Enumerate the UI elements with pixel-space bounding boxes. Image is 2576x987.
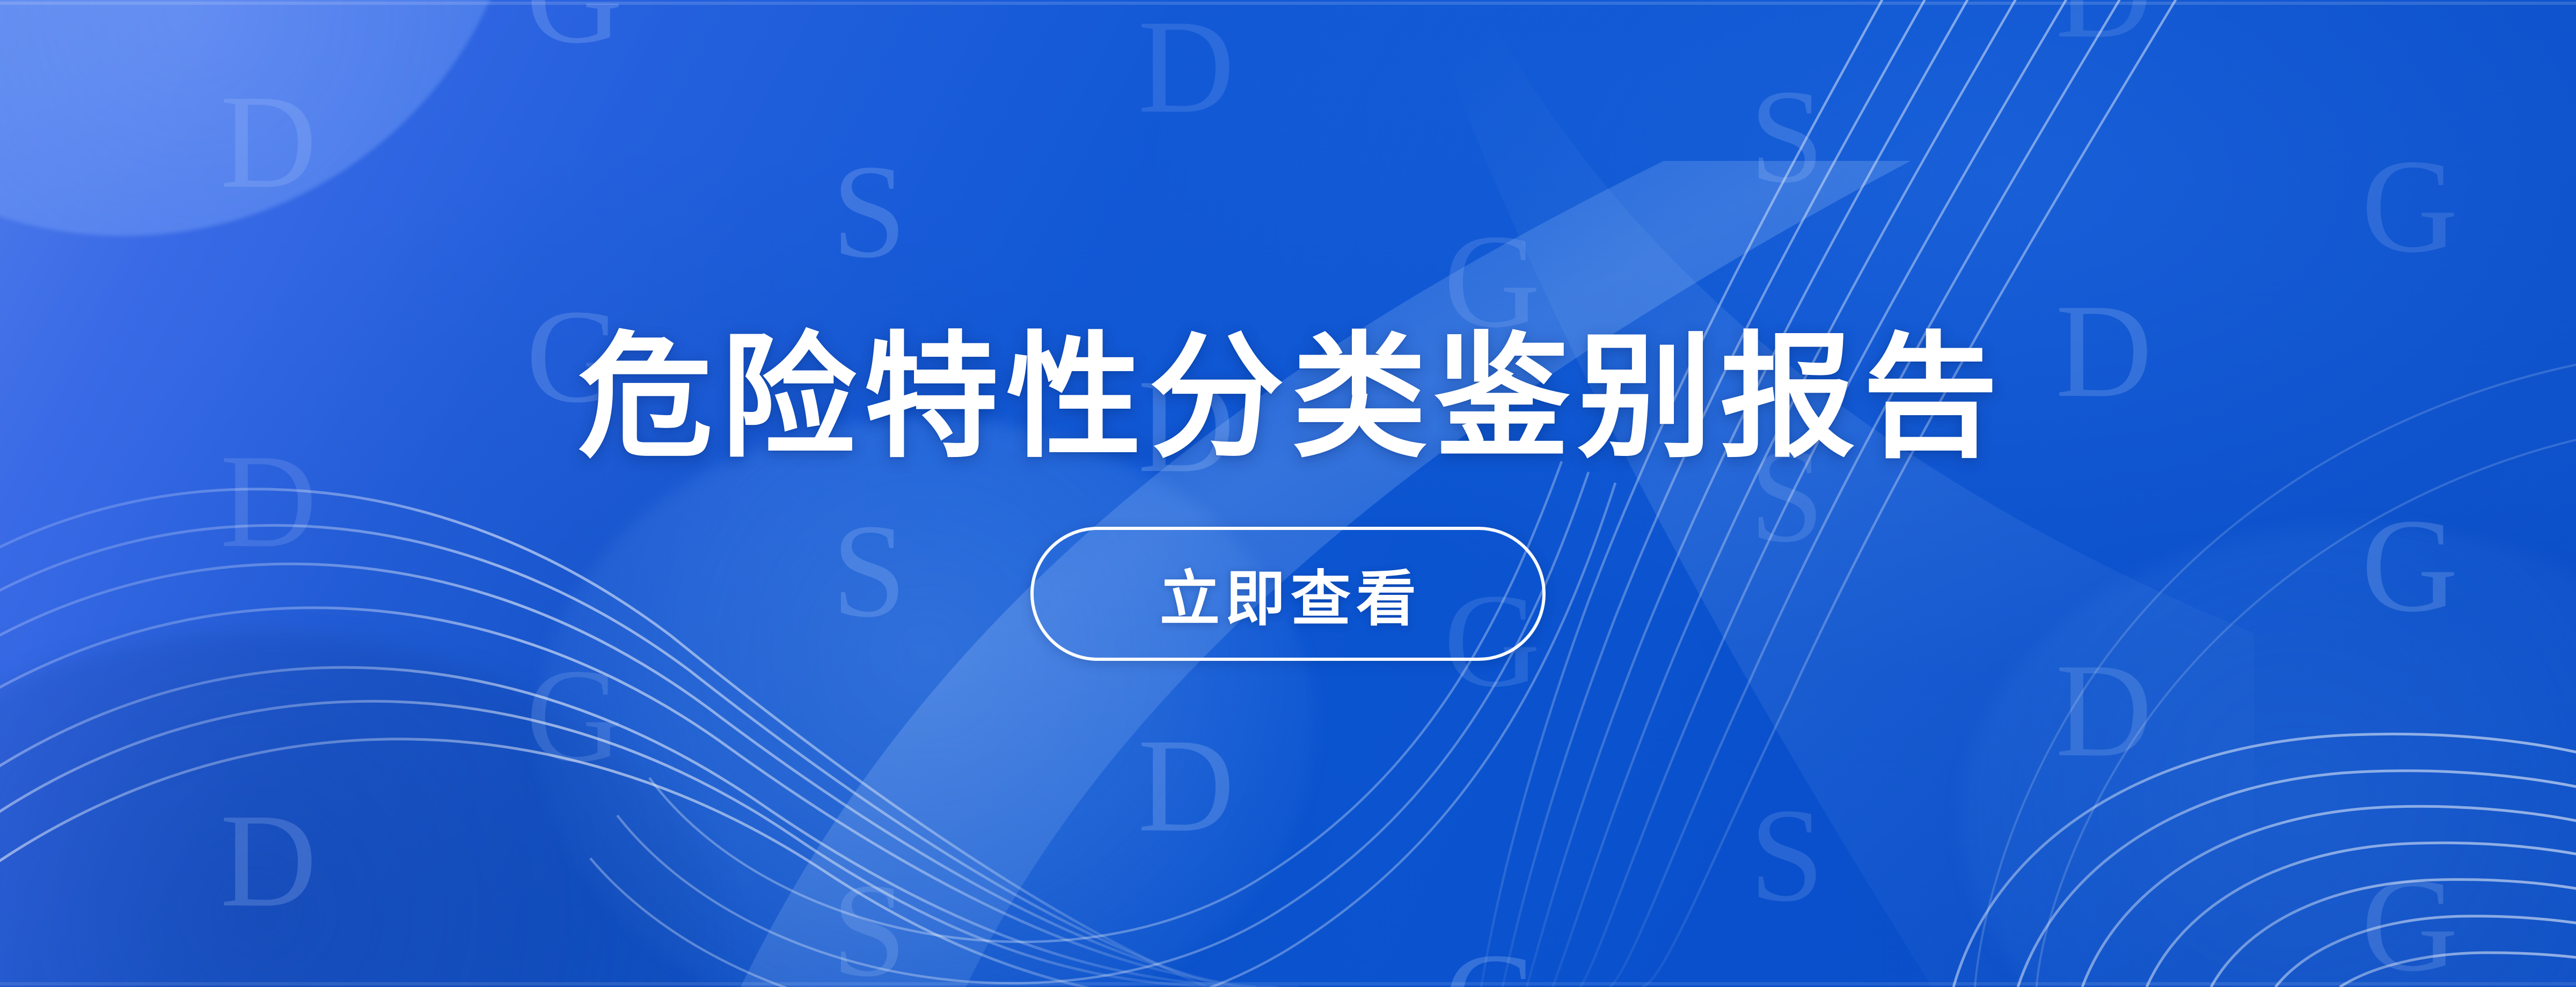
- page-title: 危险特性分类鉴别报告: [570, 326, 2006, 469]
- view-now-button[interactable]: 立即查看: [1030, 527, 1546, 661]
- banner-content: 危险特性分类鉴别报告 立即查看: [0, 0, 2576, 987]
- promo-banner: DGSGSDGSSDGSDGSGSDGSDSDGSDGSDGSDSDGS: [0, 0, 2576, 987]
- cta-container: 立即查看: [1030, 527, 1546, 661]
